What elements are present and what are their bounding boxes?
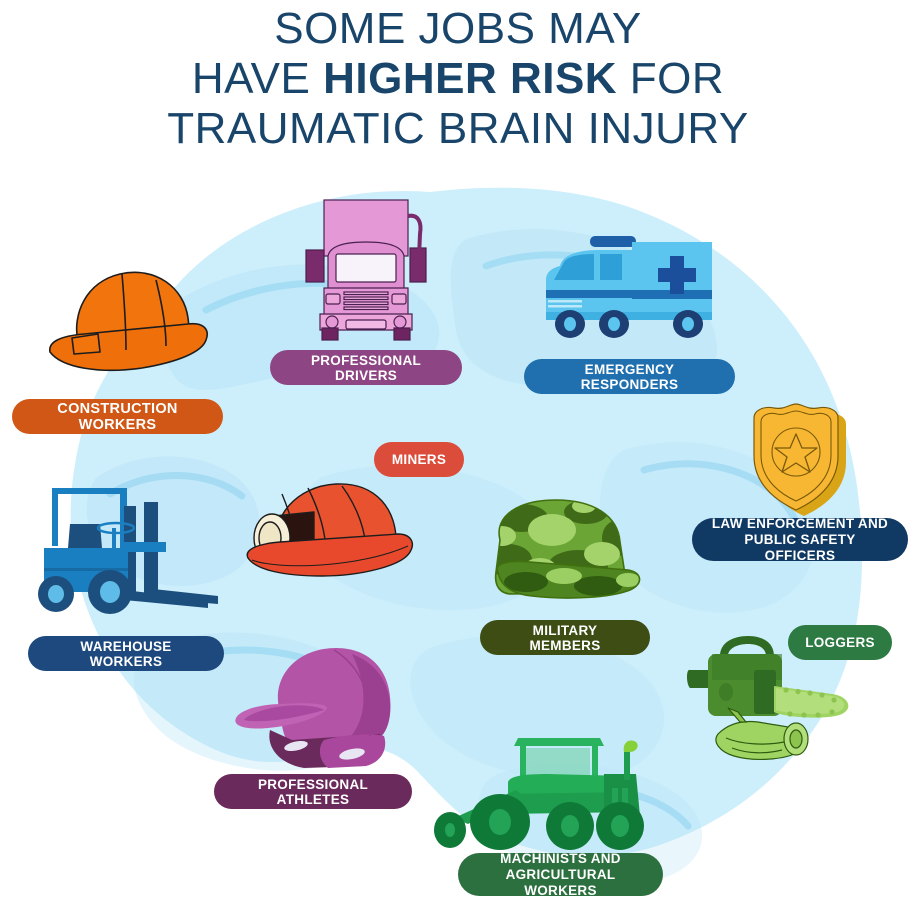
hard-hat-icon	[38, 258, 210, 380]
title-line-2-pre: HAVE	[192, 54, 323, 103]
semi-truck-icon	[300, 198, 436, 342]
title-line-2-post: FOR	[617, 54, 724, 103]
title-emphasis: HIGHER RISK	[323, 54, 617, 103]
police-badge-icon	[738, 396, 850, 516]
title-line-2: HAVE HIGHER RISK FOR	[0, 54, 916, 104]
label-emergency-responders[interactable]: EMERGENCY RESPONDERS	[524, 359, 735, 394]
batting-helmet-icon	[232, 640, 402, 778]
camouflage-cap-icon	[478, 494, 646, 610]
label-machinists[interactable]: MACHINISTS AND AGRICULTURAL WORKERS	[458, 853, 663, 896]
label-loggers[interactable]: LOGGERS	[788, 625, 892, 660]
label-law-enforcement[interactable]: LAW ENFORCEMENT AND PUBLIC SAFETY OFFICE…	[692, 518, 908, 561]
label-miners[interactable]: MINERS	[374, 442, 464, 477]
label-professional-athletes[interactable]: PROFESSIONAL ATHLETES	[214, 774, 412, 809]
label-warehouse-workers[interactable]: WAREHOUSE WORKERS	[28, 636, 224, 671]
ambulance-icon	[536, 228, 716, 346]
label-professional-drivers[interactable]: PROFESSIONAL DRIVERS	[270, 350, 462, 385]
label-construction-workers[interactable]: CONSTRUCTION WORKERS	[12, 399, 223, 434]
tractor-icon	[424, 730, 672, 852]
forklift-icon	[28, 480, 236, 622]
title-line-1: SOME JOBS MAY	[0, 4, 916, 54]
page-title: SOME JOBS MAY HAVE HIGHER RISK FOR TRAUM…	[0, 4, 916, 154]
title-line-3: TRAUMATIC BRAIN INJURY	[0, 104, 916, 154]
mining-helmet-icon	[238, 476, 418, 584]
label-military-members[interactable]: MILITARY MEMBERS	[480, 620, 650, 655]
